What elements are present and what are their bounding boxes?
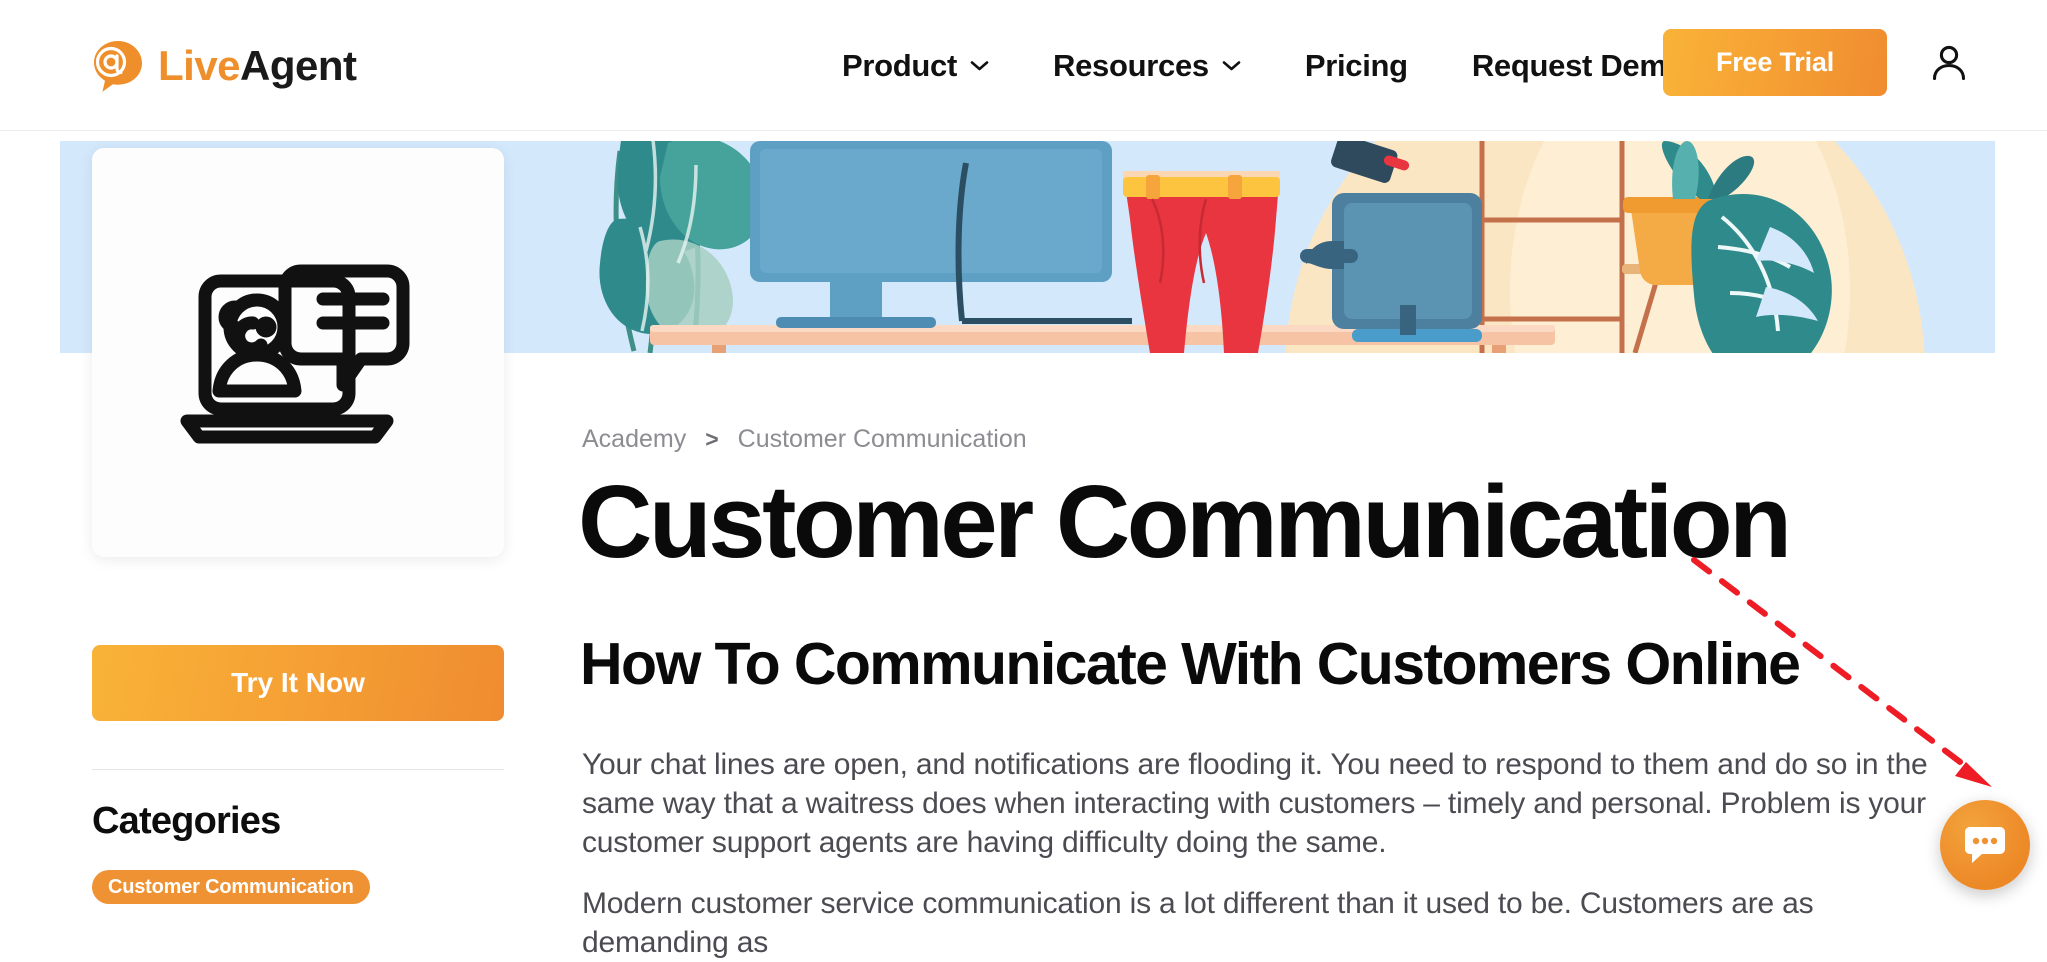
page-title: Customer Communication [578,470,1789,573]
category-icon-card [92,148,504,557]
breadcrumb-link-academy[interactable]: Academy [582,425,686,454]
body-paragraph-1: Your chat lines are open, and notificati… [582,745,1942,862]
breadcrumb-separator: > [705,426,718,453]
nav-item-pricing-label: Pricing [1305,48,1408,84]
chevron-down-icon [1222,60,1241,71]
user-icon[interactable] [1928,42,1970,84]
logo-text-agent: Agent [240,42,357,89]
nav-item-pricing[interactable]: Pricing [1273,48,1440,84]
at-speech-bubble-icon [90,38,146,94]
logo[interactable]: LiveAgent [90,38,357,94]
nav-item-product[interactable]: Product [810,48,1021,84]
nav-item-request-demo-label: Request Demo [1472,48,1685,84]
categories-title: Categories [92,800,280,843]
breadcrumb-current: Customer Communication [738,425,1027,454]
nav-item-resources-label: Resources [1053,48,1209,84]
main-navigation: Product Resources Pricing Request Demo [810,0,1717,131]
body-paragraph-2: Modern customer service communication is… [582,884,1942,962]
chat-widget-button[interactable] [1940,800,2030,890]
section-title: How To Communicate With Customers Online [580,635,1799,694]
category-pill-customer-communication[interactable]: Customer Communication [92,870,370,904]
laptop-support-chat-icon [173,235,423,470]
try-it-now-button[interactable]: Try It Now [92,645,504,721]
nav-item-resources[interactable]: Resources [1021,48,1273,84]
nav-item-product-label: Product [842,48,957,84]
site-header: LiveAgent Product Resources Pricing Requ… [0,0,2047,131]
chevron-down-icon [970,60,989,71]
logo-text-live: Live [158,42,240,89]
free-trial-button[interactable]: Free Trial [1663,29,1887,96]
logo-text: LiveAgent [158,45,357,87]
breadcrumb: Academy > Customer Communication [582,425,1027,454]
chat-bubble-dots-icon [1962,820,2008,871]
sidebar-divider [92,769,504,770]
